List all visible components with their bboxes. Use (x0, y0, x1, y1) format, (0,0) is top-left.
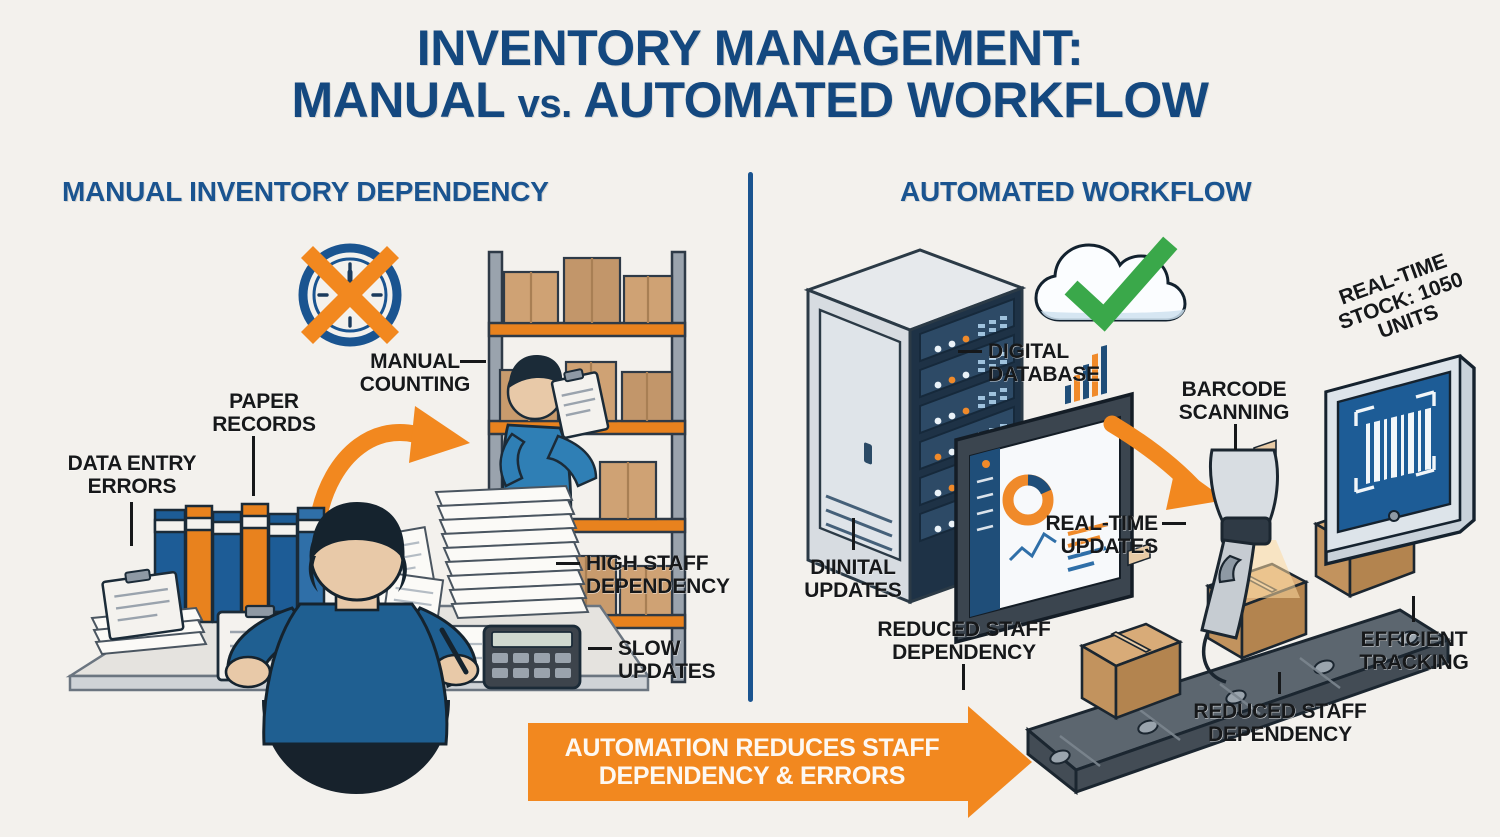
barcode-monitor (1326, 356, 1474, 564)
infographic-canvas: INVENTORY MANAGEMENT: MANUAL vs. AUTOMAT… (0, 0, 1500, 837)
summary-banner: AUTOMATION REDUCES STAFF DEPENDENCY & ER… (528, 723, 976, 801)
leader-manual-counting (460, 360, 486, 363)
summary-banner-arrowhead (968, 706, 1032, 818)
label-digital-database: DIGITAL DATABASE (988, 340, 1100, 386)
paper-stack (436, 486, 588, 618)
cloud-with-checkmark-icon (1036, 245, 1185, 320)
leader-slow-updates (588, 647, 612, 650)
label-paper-records: PAPER RECORDS (198, 390, 330, 436)
clock-with-cross-icon (303, 248, 397, 342)
label-barcode-scanning: BARCODE SCANNING (1164, 378, 1304, 424)
leader-real-time-updates (1162, 522, 1186, 525)
leader-digital-updates (852, 518, 855, 550)
label-reduced-staff-dependency-left: REDUCED STAFF DEPENDENCY (866, 618, 1062, 664)
calculator (484, 626, 580, 688)
banner-line-1: AUTOMATION REDUCES STAFF (565, 734, 940, 762)
leader-efficient-tracking (1412, 596, 1415, 622)
manual-illustration (0, 0, 760, 837)
label-real-time-updates: REAL-TIME UPDATES (1030, 512, 1158, 558)
label-reduced-staff-dependency-right: REDUCED STAFF DEPENDENCY (1182, 700, 1378, 746)
label-data-entry-errors: DATA ENTRY ERRORS (56, 452, 208, 498)
leader-high-staff (556, 562, 580, 565)
leader-barcode (1234, 424, 1237, 450)
label-manual-counting: MANUAL COUNTING (352, 350, 478, 396)
leader-paper-records (252, 436, 255, 496)
automated-illustration (760, 0, 1500, 837)
leader-digital-database (958, 350, 982, 353)
label-efficient-tracking: EFFICIENT TRACKING (1340, 628, 1488, 674)
label-slow-updates: SLOW UPDATES (618, 637, 715, 683)
summary-banner-text: AUTOMATION REDUCES STAFF DEPENDENCY & ER… (565, 734, 940, 790)
leader-reduced-left (962, 664, 965, 690)
leader-data-entry (130, 502, 133, 546)
label-high-staff-dependency: HIGH STAFF DEPENDENCY (586, 552, 730, 598)
label-digital-updates: DIINITAL UPDATES (790, 556, 916, 602)
banner-line-2: DEPENDENCY & ERRORS (599, 762, 905, 790)
leader-reduced-right (1278, 672, 1281, 694)
